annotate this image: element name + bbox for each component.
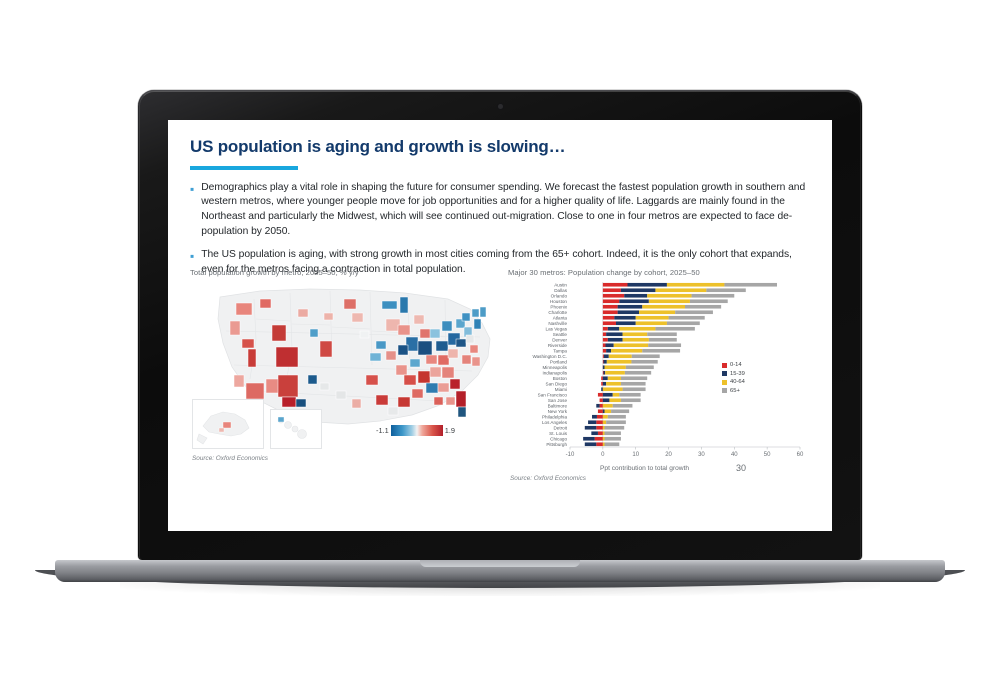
svg-text:Washington D.C.: Washington D.C. bbox=[532, 354, 567, 359]
alaska-svg bbox=[193, 400, 263, 448]
bullet-dot-icon: ▪ bbox=[190, 181, 194, 239]
legend-label: 0-14 bbox=[730, 362, 742, 368]
legend-item[interactable]: 15-39 bbox=[722, 371, 745, 377]
bar-chart-title: Major 30 metros: Population change by co… bbox=[508, 268, 810, 277]
legend-label: 65+ bbox=[730, 388, 740, 394]
svg-text:St. Louis: St. Louis bbox=[549, 431, 568, 436]
bar-chart-xaxis-label: Ppt contribution to total growth bbox=[600, 465, 689, 472]
svg-text:0: 0 bbox=[601, 452, 605, 458]
list-item: ▪ Demographics play a vital role in shap… bbox=[190, 181, 810, 239]
legend-label: 15-39 bbox=[730, 371, 745, 377]
svg-text:San Diego: San Diego bbox=[546, 382, 568, 387]
svg-text:Baltimore: Baltimore bbox=[548, 404, 568, 409]
svg-text:40: 40 bbox=[731, 452, 738, 458]
legend-label: 40-64 bbox=[730, 379, 745, 385]
svg-text:Atlanta: Atlanta bbox=[553, 316, 568, 321]
svg-text:Pittsburgh: Pittsburgh bbox=[546, 442, 567, 447]
svg-text:Nashville: Nashville bbox=[548, 321, 567, 326]
figure-bar-chart: Major 30 metros: Population change by co… bbox=[508, 268, 810, 513]
legend-swatch bbox=[722, 388, 727, 393]
colorbar-gradient bbox=[391, 425, 443, 436]
svg-text:Houston: Houston bbox=[550, 299, 568, 304]
map-inset-hawaii bbox=[270, 409, 322, 449]
legend-swatch bbox=[722, 363, 727, 368]
laptop-lid: US population is aging and growth is slo… bbox=[138, 90, 862, 560]
svg-text:Dallas: Dallas bbox=[554, 288, 567, 293]
svg-text:San Francisco: San Francisco bbox=[538, 393, 568, 398]
svg-text:Riverside: Riverside bbox=[548, 343, 568, 348]
svg-text:New York: New York bbox=[548, 409, 568, 414]
legend-item[interactable]: 40-64 bbox=[722, 379, 745, 385]
stray-label: 30 bbox=[736, 463, 746, 473]
bar-chart-svg: -100102030405060AustinDallasOrlandoHoust… bbox=[508, 279, 808, 465]
webcam-icon bbox=[498, 104, 503, 109]
colorbar-max-label: 1.9 bbox=[445, 426, 455, 435]
title-accent-bar bbox=[190, 166, 298, 170]
laptop-shadow bbox=[120, 582, 880, 596]
svg-text:-10: -10 bbox=[566, 452, 575, 458]
figures-row: Total population growth by metro, 2025–5… bbox=[190, 268, 810, 513]
legend-swatch bbox=[722, 371, 727, 376]
svg-text:Boston: Boston bbox=[553, 376, 568, 381]
svg-text:Chicago: Chicago bbox=[550, 437, 567, 442]
bullet-list: ▪ Demographics play a vital role in shap… bbox=[190, 181, 810, 278]
svg-text:Miami: Miami bbox=[555, 387, 567, 392]
map-colorbar: -1.1 1.9 bbox=[376, 425, 455, 436]
map-source: Source: Oxford Economics bbox=[192, 455, 268, 462]
map-title: Total population growth by metro, 2025–5… bbox=[190, 268, 508, 277]
page-title: US population is aging and growth is slo… bbox=[190, 138, 810, 157]
svg-text:San Jose: San Jose bbox=[548, 398, 568, 403]
laptop-base bbox=[55, 560, 945, 582]
svg-text:Los Angeles: Los Angeles bbox=[542, 420, 568, 425]
colorbar-min-label: -1.1 bbox=[376, 426, 389, 435]
legend-item[interactable]: 0-14 bbox=[722, 362, 745, 368]
figure-map: Total population growth by metro, 2025–5… bbox=[190, 268, 508, 513]
svg-text:Minneapolis: Minneapolis bbox=[542, 365, 567, 370]
hawaii-svg bbox=[271, 410, 321, 448]
bullet-text: Demographics play a vital role in shapin… bbox=[201, 181, 810, 239]
svg-text:Denver: Denver bbox=[552, 338, 567, 343]
us-metro-choropleth: -1.1 1.9 Source: Oxford Economics bbox=[190, 279, 505, 455]
laptop-base-notch bbox=[420, 560, 580, 567]
svg-text:Tampa: Tampa bbox=[553, 349, 567, 354]
svg-text:20: 20 bbox=[665, 452, 672, 458]
laptop-screen: US population is aging and growth is slo… bbox=[168, 120, 832, 531]
svg-text:Phoenix: Phoenix bbox=[550, 305, 567, 310]
svg-text:Philadelphia: Philadelphia bbox=[542, 415, 567, 420]
legend-item[interactable]: 65+ bbox=[722, 388, 745, 394]
svg-text:50: 50 bbox=[764, 452, 771, 458]
svg-text:Portland: Portland bbox=[550, 360, 568, 365]
svg-text:10: 10 bbox=[632, 452, 639, 458]
svg-text:Indianapolis: Indianapolis bbox=[542, 371, 567, 376]
legend-swatch bbox=[722, 380, 727, 385]
svg-text:60: 60 bbox=[797, 452, 804, 458]
svg-text:Orlando: Orlando bbox=[551, 294, 568, 299]
bar-chart-legend: 0-1415-3940-6465+ bbox=[722, 362, 745, 396]
laptop-mockup: US population is aging and growth is slo… bbox=[0, 0, 1000, 700]
map-inset-alaska bbox=[192, 399, 264, 449]
svg-text:Charlotte: Charlotte bbox=[548, 310, 567, 315]
svg-text:Seattle: Seattle bbox=[553, 332, 568, 337]
bar-chart-source: Source: Oxford Economics bbox=[510, 475, 586, 482]
presentation-slide: US population is aging and growth is slo… bbox=[168, 120, 832, 531]
svg-text:Austin: Austin bbox=[554, 283, 567, 288]
svg-text:30: 30 bbox=[698, 452, 705, 458]
svg-text:Detroit: Detroit bbox=[553, 426, 567, 431]
cohort-stacked-bar-chart: -100102030405060AustinDallasOrlandoHoust… bbox=[508, 279, 808, 479]
svg-text:Las Vegas: Las Vegas bbox=[546, 327, 568, 332]
